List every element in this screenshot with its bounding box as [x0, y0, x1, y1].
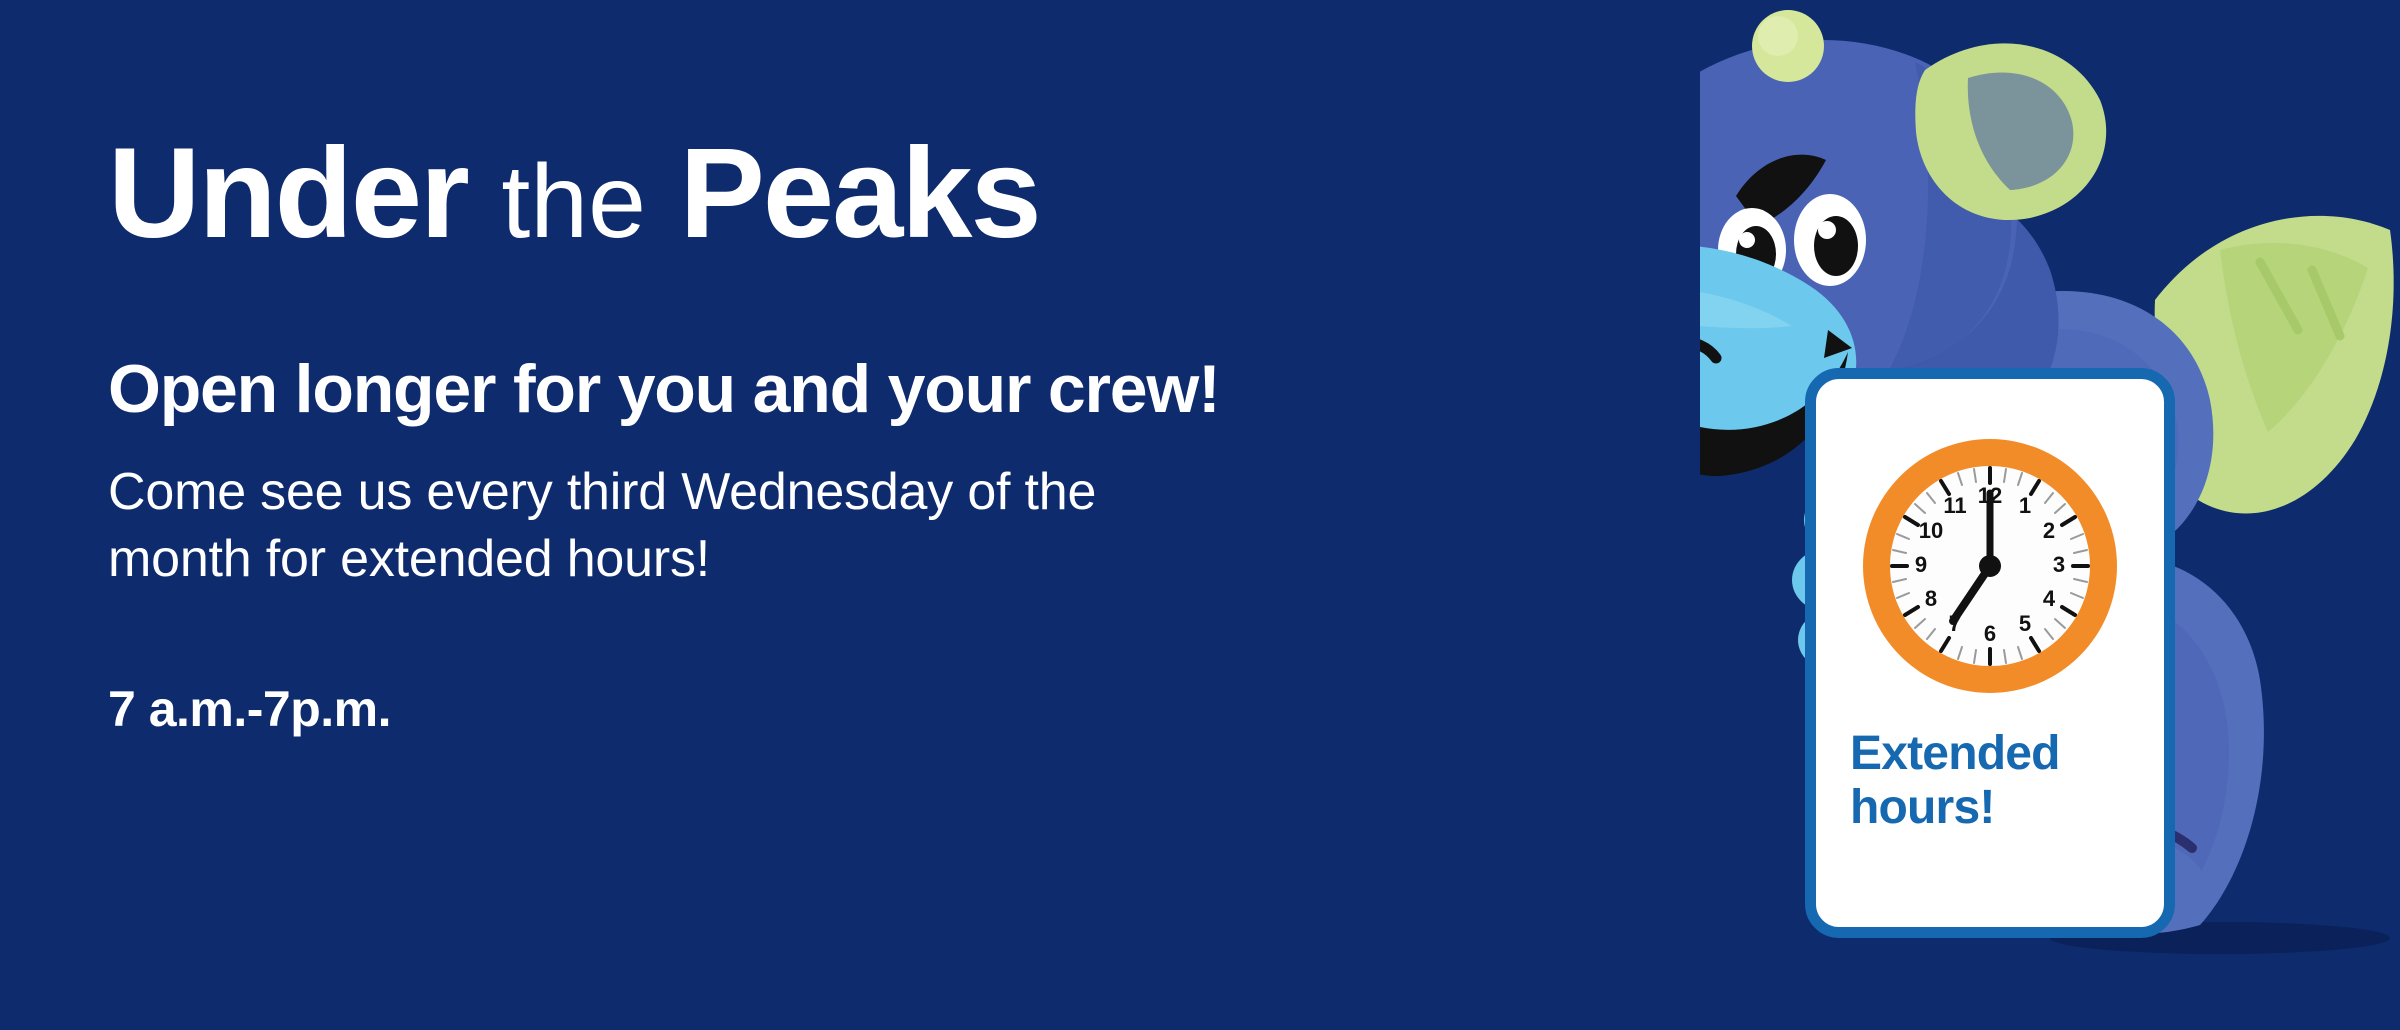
clock-numeral-9: 9: [1915, 552, 1927, 577]
headline-part-2: the: [501, 144, 646, 260]
clock-numeral-10: 10: [1919, 518, 1943, 543]
headline-part-3: Peaks: [680, 122, 1040, 265]
headline-part-1: Under: [108, 122, 468, 265]
subheadline: Open longer for you and your crew!: [108, 354, 1748, 425]
clock-center-pin: [1979, 555, 2001, 577]
clock-numeral-5: 5: [2019, 611, 2031, 636]
sign-text: Extended hours!: [1850, 727, 2060, 835]
clock-numeral-2: 2: [2043, 518, 2055, 543]
hours-text: 7 a.m.-7p.m.: [108, 680, 1748, 738]
body-copy-line-2: month for extended hours!: [108, 526, 1748, 593]
clock-icon: 12 1 2 3 4 5 6 7 8 9 10 11: [1859, 435, 2121, 697]
sign-text-line-2: hours!: [1850, 781, 2060, 835]
clock-numeral-6: 6: [1984, 621, 1996, 646]
banner-text-block: Under the Peaks Open longer for you and …: [108, 130, 1748, 738]
extended-hours-sign: 12 1 2 3 4 5 6 7 8 9 10 11 Extended hour…: [1805, 368, 2175, 938]
clock-numeral-4: 4: [2043, 586, 2056, 611]
clock-numeral-1: 1: [2019, 493, 2031, 518]
body-copy-line-1: Come see us every third Wednesday of the: [108, 459, 1748, 526]
promotional-banner: Under the Peaks Open longer for you and …: [0, 0, 2400, 1030]
sign-text-line-1: Extended: [1850, 727, 2060, 781]
page-title: Under the Peaks: [108, 130, 1748, 258]
body-copy: Come see us every third Wednesday of the…: [108, 459, 1748, 592]
clock-numeral-3: 3: [2053, 552, 2065, 577]
mascot-eye-right: [1794, 194, 1866, 286]
clock-numeral-11: 11: [1943, 493, 1966, 518]
clock-numeral-8: 8: [1925, 586, 1937, 611]
